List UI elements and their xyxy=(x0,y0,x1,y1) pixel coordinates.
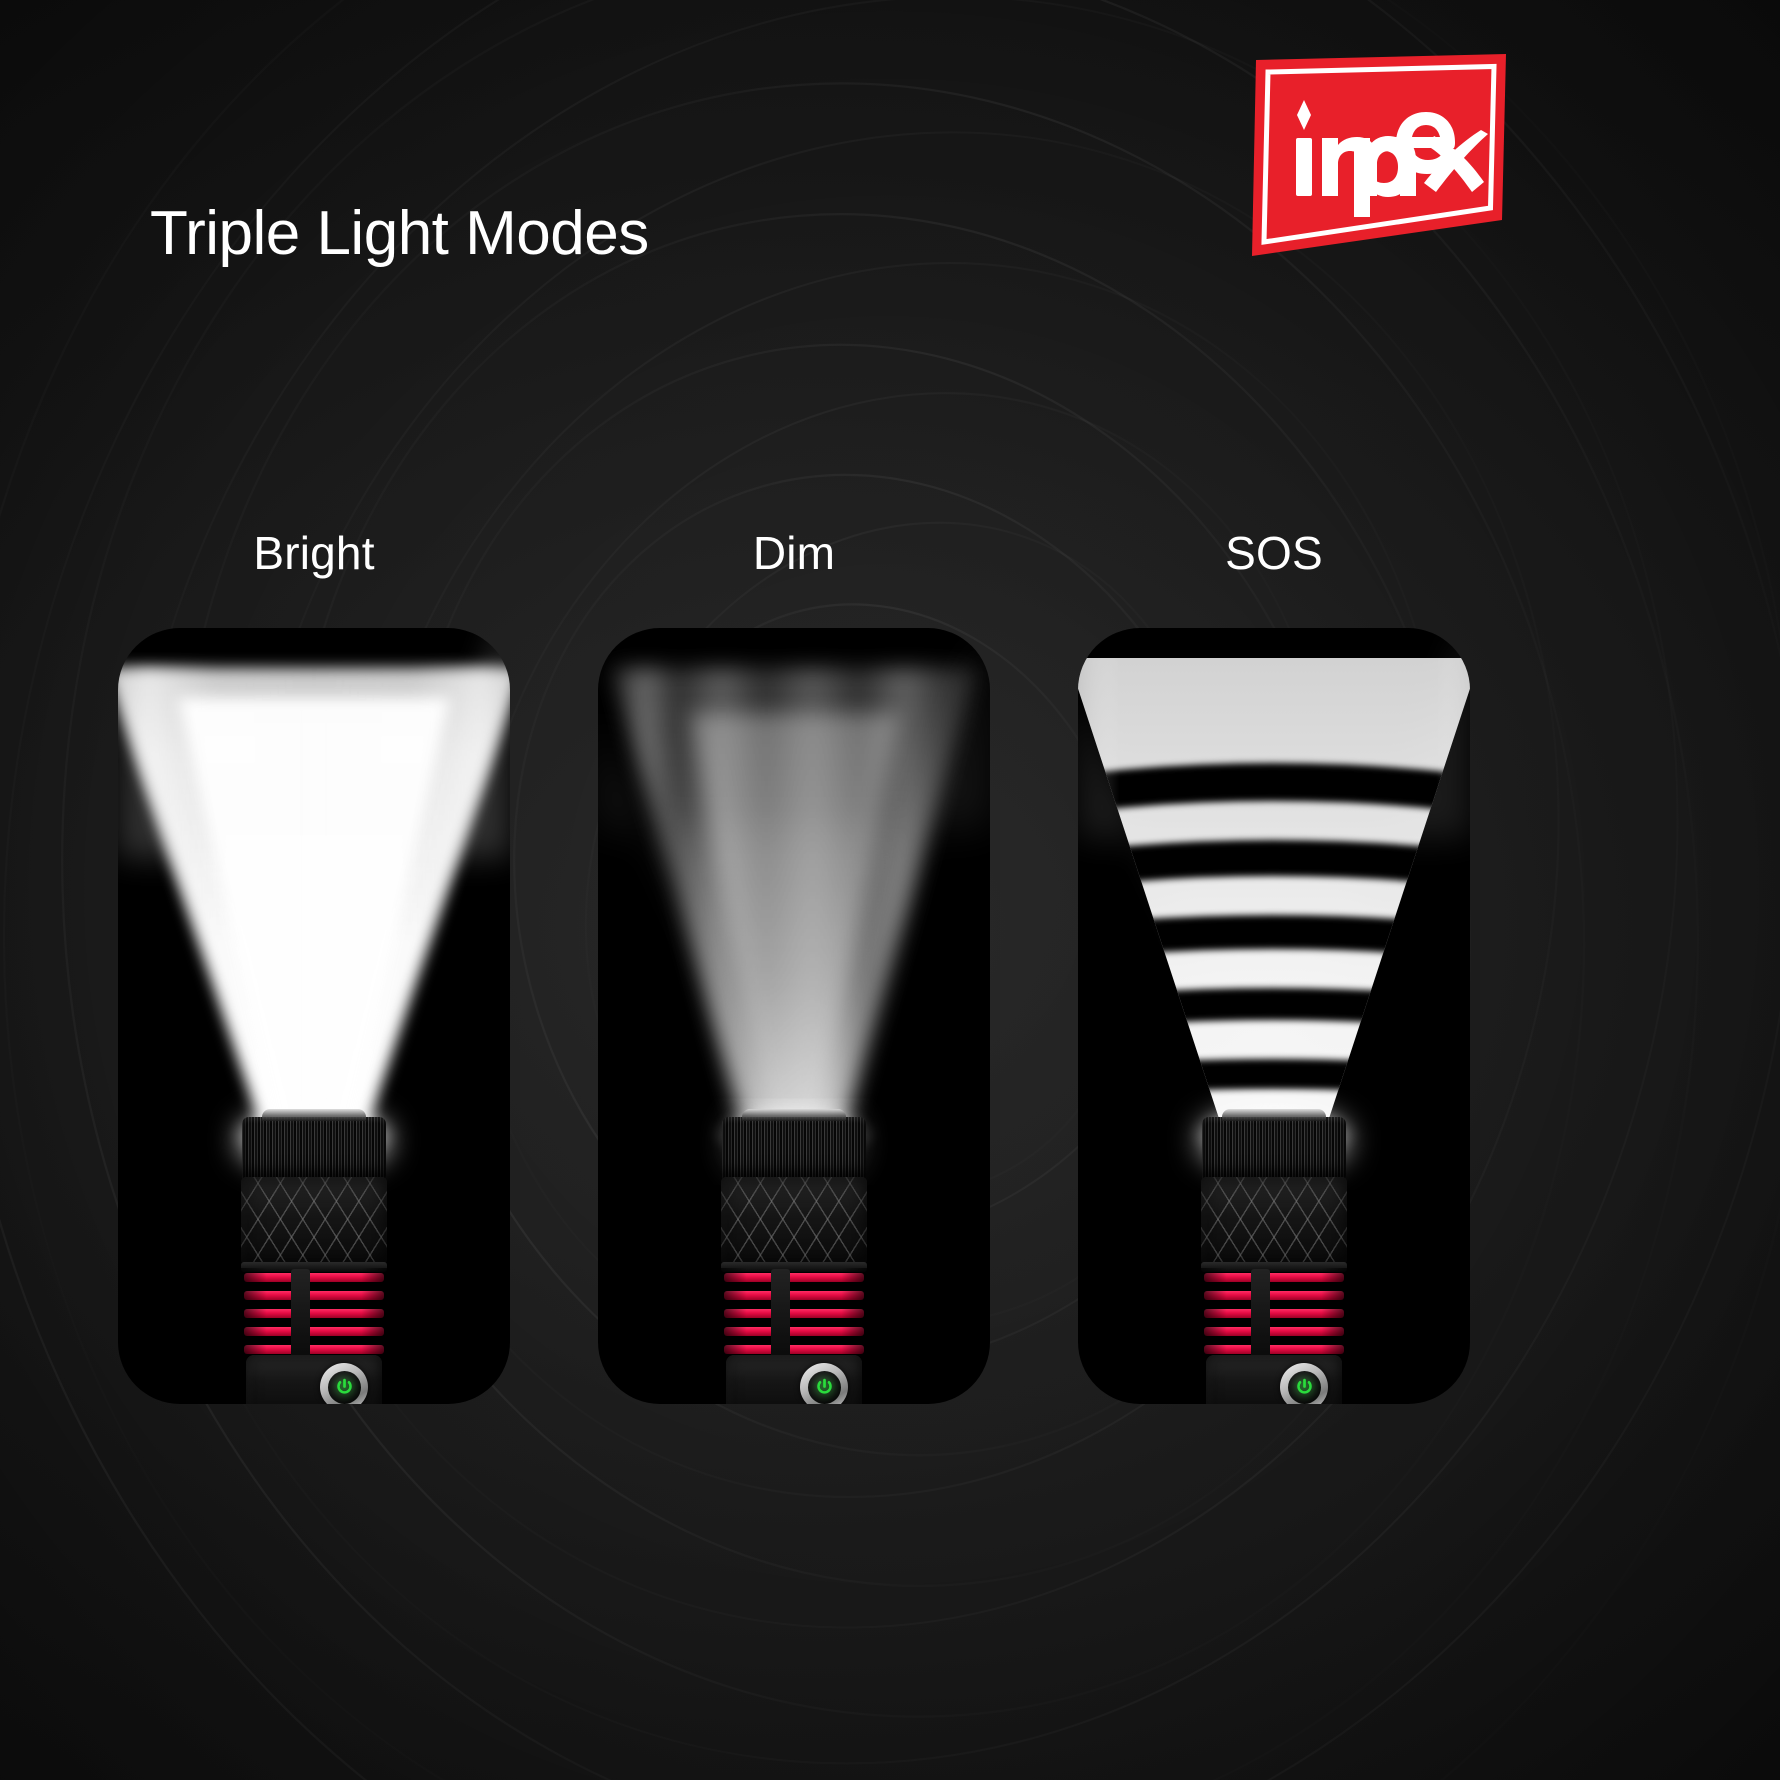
bezel-knurl xyxy=(722,1117,866,1179)
crosshatch-grip xyxy=(1201,1177,1347,1265)
cooling-fins xyxy=(1204,1271,1344,1357)
switch-housing xyxy=(246,1355,382,1404)
flashlight-bright: impex xyxy=(239,1109,389,1404)
product-feature-banner: Triple Light Modes Bright xyxy=(0,0,1780,1780)
power-icon xyxy=(815,1378,834,1397)
beam-preview-sos: impex xyxy=(1078,628,1470,1404)
beam-preview-dim: impex xyxy=(598,628,990,1404)
flashlight-sos: impex xyxy=(1199,1109,1349,1404)
mode-card-dim[interactable]: Dim xyxy=(598,520,990,1404)
cooling-fins xyxy=(724,1271,864,1357)
mode-card-sos[interactable]: SOS xyxy=(1078,520,1470,1404)
power-button[interactable] xyxy=(1280,1363,1328,1404)
power-icon xyxy=(335,1378,354,1397)
crosshatch-grip xyxy=(241,1177,387,1265)
switch-housing xyxy=(726,1355,862,1404)
power-button[interactable] xyxy=(320,1363,368,1404)
flashlight-dim: impex xyxy=(719,1109,869,1404)
power-button[interactable] xyxy=(800,1363,848,1404)
mode-card-bright[interactable]: Bright xyxy=(118,520,510,1404)
page-title: Triple Light Modes xyxy=(150,198,649,269)
mode-label-sos: SOS xyxy=(1078,520,1470,586)
mode-label-bright: Bright xyxy=(118,520,510,586)
beam-preview-bright: impex xyxy=(118,628,510,1404)
impex-logo[interactable] xyxy=(1248,52,1510,260)
crosshatch-grip xyxy=(721,1177,867,1265)
switch-housing xyxy=(1206,1355,1342,1404)
bezel-knurl xyxy=(1202,1117,1346,1179)
cooling-fins xyxy=(244,1271,384,1357)
power-icon xyxy=(1295,1378,1314,1397)
bezel-knurl xyxy=(242,1117,386,1179)
mode-label-dim: Dim xyxy=(598,520,990,586)
